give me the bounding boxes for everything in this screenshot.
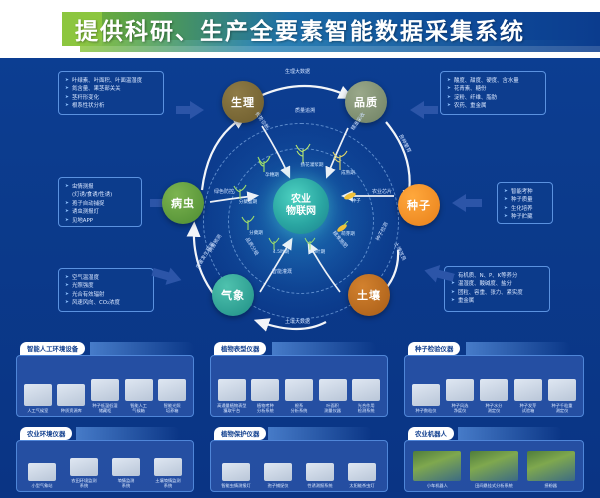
item-label: 种子数粒仪 [416,408,437,413]
device-thumb [412,384,440,406]
list-item[interactable]: 田间悬挂式分析系统 [466,451,523,488]
item-label: 小型气象站 [32,483,53,488]
item-label: 高通量植物表型 獲取平台 [217,403,246,413]
item-label: 孢子捕捉仪 [268,483,289,488]
panel-tab-shadow [458,427,562,440]
device-thumb [222,463,250,481]
item-label: 种子风选 净度仪 [452,403,469,413]
panel-smart-artificial-environment-tab[interactable]: 智能人工环境设备 [20,342,85,355]
node-pest[interactable]: 病虫 [162,182,204,224]
item-label: 田间悬挂式分析系统 [475,483,513,488]
arc-label-physiology-bigdata: 生理大数据 [285,68,310,75]
device-thumb [57,384,85,406]
node-physiology-label: 生理 [231,94,255,110]
panel-seed-inspection-instruments-tab[interactable]: 种子检验仪器 [408,342,460,355]
item-label: 性诱测报系统 [307,483,332,488]
panel-items: 人工气候室 种质资源库 种子低温低湿 储藏柜 智能人工 气候箱 智能光照 培养箱 [17,356,193,416]
flow-pest-to-physiology [202,118,242,190]
list-item[interactable]: 土壤墒情监测 系统 [147,458,189,488]
device-thumb [306,463,334,481]
panel-items: 智能虫情测报灯 孢子捕捉仪 性诱测报系统 太阳能杀虫灯 [211,441,387,491]
item-label: 种子水分 测定仪 [486,403,503,413]
item-label: 人工气候室 [27,408,48,413]
device-thumb [285,379,313,401]
device-thumb [125,379,153,401]
list-item[interactable]: 叶面积 测量仪器 [316,379,350,413]
panel-plant-protection-instruments-tab[interactable]: 植物保护仪器 [214,427,266,440]
list-item[interactable]: 种子发芽 试验箱 [511,379,545,413]
panel-plant-phenotype-instruments: 高通量植物表型 獲取平台 植物考种 分析系统 根系 分析系统 叶面积 测量仪器 … [210,355,388,417]
list-item[interactable]: 授粉器 [522,451,579,488]
item-label: 光合作用 检测系统 [358,403,375,413]
panel-smart-artificial-environment: 人工气候室 种质资源库 种子低温低湿 储藏柜 智能人工 气候箱 智能光照 培养箱 [16,355,194,417]
item-label: 种质资源库 [61,408,82,413]
item-label: 农田环境监测 系统 [71,478,96,488]
stage-booting-label: 孕穗期 [265,172,279,178]
spoke-label-traceability: 质量追溯 [295,107,315,114]
panel-items: 小型气象站 农田环境监测 系统 墒情监测 系统 土壤墒情监测 系统 [17,441,193,491]
panel-tab-shadow [466,342,570,355]
item-label: 智能虫情测报灯 [221,483,250,488]
panel-agricultural-environment-instruments: 小型气象站 农田环境监测 系统 墒情监测 系统 土壤墒情监测 系统 [16,440,194,492]
list-item[interactable]: 人工气候室 [21,384,55,413]
node-weather-label: 气象 [221,287,245,303]
node-weather[interactable]: 气象 [212,274,254,316]
item-label: 智能人工 气候箱 [130,403,147,413]
panel-items: 小车机器人 田间悬挂式分析系统 授粉器 [405,441,583,491]
device-thumb [70,458,98,476]
stage-tillering-peak-label: 分蘖盛期 [239,199,257,205]
stage-tillering-label: 分蘖期 [249,230,263,236]
item-label: 植物考种 分析系统 [257,403,274,413]
device-thumb [251,379,279,401]
panel-tab-shadow [76,427,180,440]
spoke-label-green-control: 绿色防控 [214,188,234,195]
node-quality-label: 品质 [354,94,378,110]
device-thumb [91,379,119,401]
device-thumb [24,384,52,406]
device-thumb [352,379,380,401]
device-thumb [154,458,182,476]
item-label: 土壤墒情监测 系统 [155,478,180,488]
panel-seed-inspection-instruments: 种子数粒仪 种子风选 净度仪 种子水分 测定仪 种子发芽 试验箱 种子千粒重 测… [404,355,584,417]
item-label: 种子发芽 试验箱 [520,403,537,413]
device-thumb [319,379,347,401]
panel-tab-shadow [90,342,194,355]
item-label: 小车机器人 [427,483,448,488]
header-banner: 提供科研、生产全要素智能数据采集系统 [0,0,600,58]
panel-plant-protection-instruments: 智能虫情测报灯 孢子捕捉仪 性诱测报系统 太阳能杀虫灯 [210,440,388,492]
list-item[interactable]: 智能光照 培养箱 [155,379,189,413]
robot-photo [413,451,461,481]
panel-tab-shadow [272,342,376,355]
core-bubble-agri-iot[interactable]: 农业 物联网 [273,178,329,234]
node-seed[interactable]: 种子 [398,184,440,226]
core-label-line1: 农业 [291,194,311,206]
list-item[interactable]: 孢子捕捉仪 [257,463,299,488]
list-item[interactable]: 种子风选 净度仪 [443,379,477,413]
list-item[interactable]: 植物考种 分析系统 [249,379,283,413]
device-thumb [218,379,246,401]
list-item[interactable]: 根系 分析系统 [282,379,316,413]
panel-tab-shadow [268,427,372,440]
list-item[interactable]: 种子水分 测定仪 [477,379,511,413]
node-seed-label: 种子 [407,197,431,213]
robot-photo [470,451,518,481]
page-title: 提供科研、生产全要素智能数据采集系统 [0,0,600,58]
item-label: 授粉器 [544,483,557,488]
node-quality[interactable]: 品质 [345,81,387,123]
robot-photo [527,451,575,481]
list-item[interactable]: 太阳能杀虫灯 [341,463,383,488]
panel-items: 高通量植物表型 獲取平台 植物考种 分析系统 根系 分析系统 叶面积 测量仪器 … [211,356,387,416]
spoke-label-agri-chip: 农业芯片 [372,188,392,195]
device-thumb [158,379,186,401]
panel-agricultural-environment-instruments-tab[interactable]: 农业环境仪器 [20,427,72,440]
list-item[interactable]: 智能虫情测报灯 [215,463,257,488]
device-thumb [548,379,576,401]
panel-plant-phenotype-instruments-tab[interactable]: 植物表型仪器 [214,342,266,355]
panel-agricultural-robots-tab[interactable]: 农业机器人 [408,427,454,440]
list-item[interactable]: 小型气象站 [21,463,63,488]
device-thumb [514,379,542,401]
list-item[interactable]: 高通量植物表型 獲取平台 [215,379,249,413]
list-item[interactable]: 小车机器人 [409,451,466,488]
device-thumb [28,463,56,481]
item-label: 太阳能杀虫灯 [349,483,374,488]
device-thumb [348,463,376,481]
device-thumb [264,463,292,481]
flow-physiology-to-quality [260,86,348,96]
spoke-label-smart-irrigation: 智能灌溉 [272,268,292,275]
stage-flowering-label: 扬花灌浆期 [301,162,324,168]
list-item[interactable]: 种子千粒重 测定仪 [545,379,579,413]
arc-label-soil-bigdata: 土壤大数据 [285,318,310,325]
stage-germination-label: 萌芽期 [341,231,355,237]
list-item[interactable]: 种质资源库 [55,384,89,413]
item-label: 根系 分析系统 [291,403,308,413]
item-label: 叶面积 测量仪器 [324,403,341,413]
device-thumb [446,379,474,401]
item-label: 墒情监测 系统 [118,478,135,488]
core-label-line2: 物联网 [286,206,316,218]
item-label: 智能光照 培养箱 [164,403,181,413]
list-item[interactable]: 种子低温低湿 储藏柜 [88,379,122,413]
item-label: 种子低温低湿 储藏柜 [92,403,117,413]
item-label: 种子千粒重 测定仪 [552,403,573,413]
stage-seed-label: 种子 [351,198,360,204]
list-item[interactable]: 智能人工 气候箱 [122,379,156,413]
node-soil[interactable]: 土壤 [348,274,390,316]
panel-agricultural-robots: 小车机器人 田间悬挂式分析系统 授粉器 [404,440,584,492]
device-thumb [480,379,508,401]
stage-25leaf-label: 2.5叶期 [309,249,326,255]
device-thumb [112,458,140,476]
list-item[interactable]: 性诱测报系统 [299,463,341,488]
list-item[interactable]: 农田环境监测 系统 [63,458,105,488]
list-item[interactable]: 墒情监测 系统 [105,458,147,488]
list-item[interactable]: 种子数粒仪 [409,384,443,413]
panel-items: 种子数粒仪 种子风选 净度仪 种子水分 测定仪 种子发芽 试验箱 种子千粒重 测… [405,356,583,416]
stage-45leaf-label: 4.5叶期 [273,249,290,255]
poster-canvas: 提供科研、生产全要素智能数据采集系统 叶绿素、叶面积、叶面温湿度 氮含量、果茎部… [0,0,600,498]
list-item[interactable]: 光合作用 检测系统 [349,379,383,413]
node-pest-label: 病虫 [171,195,195,211]
stage-mature-label: 成熟期 [341,170,355,176]
node-soil-label: 土壤 [357,287,381,303]
